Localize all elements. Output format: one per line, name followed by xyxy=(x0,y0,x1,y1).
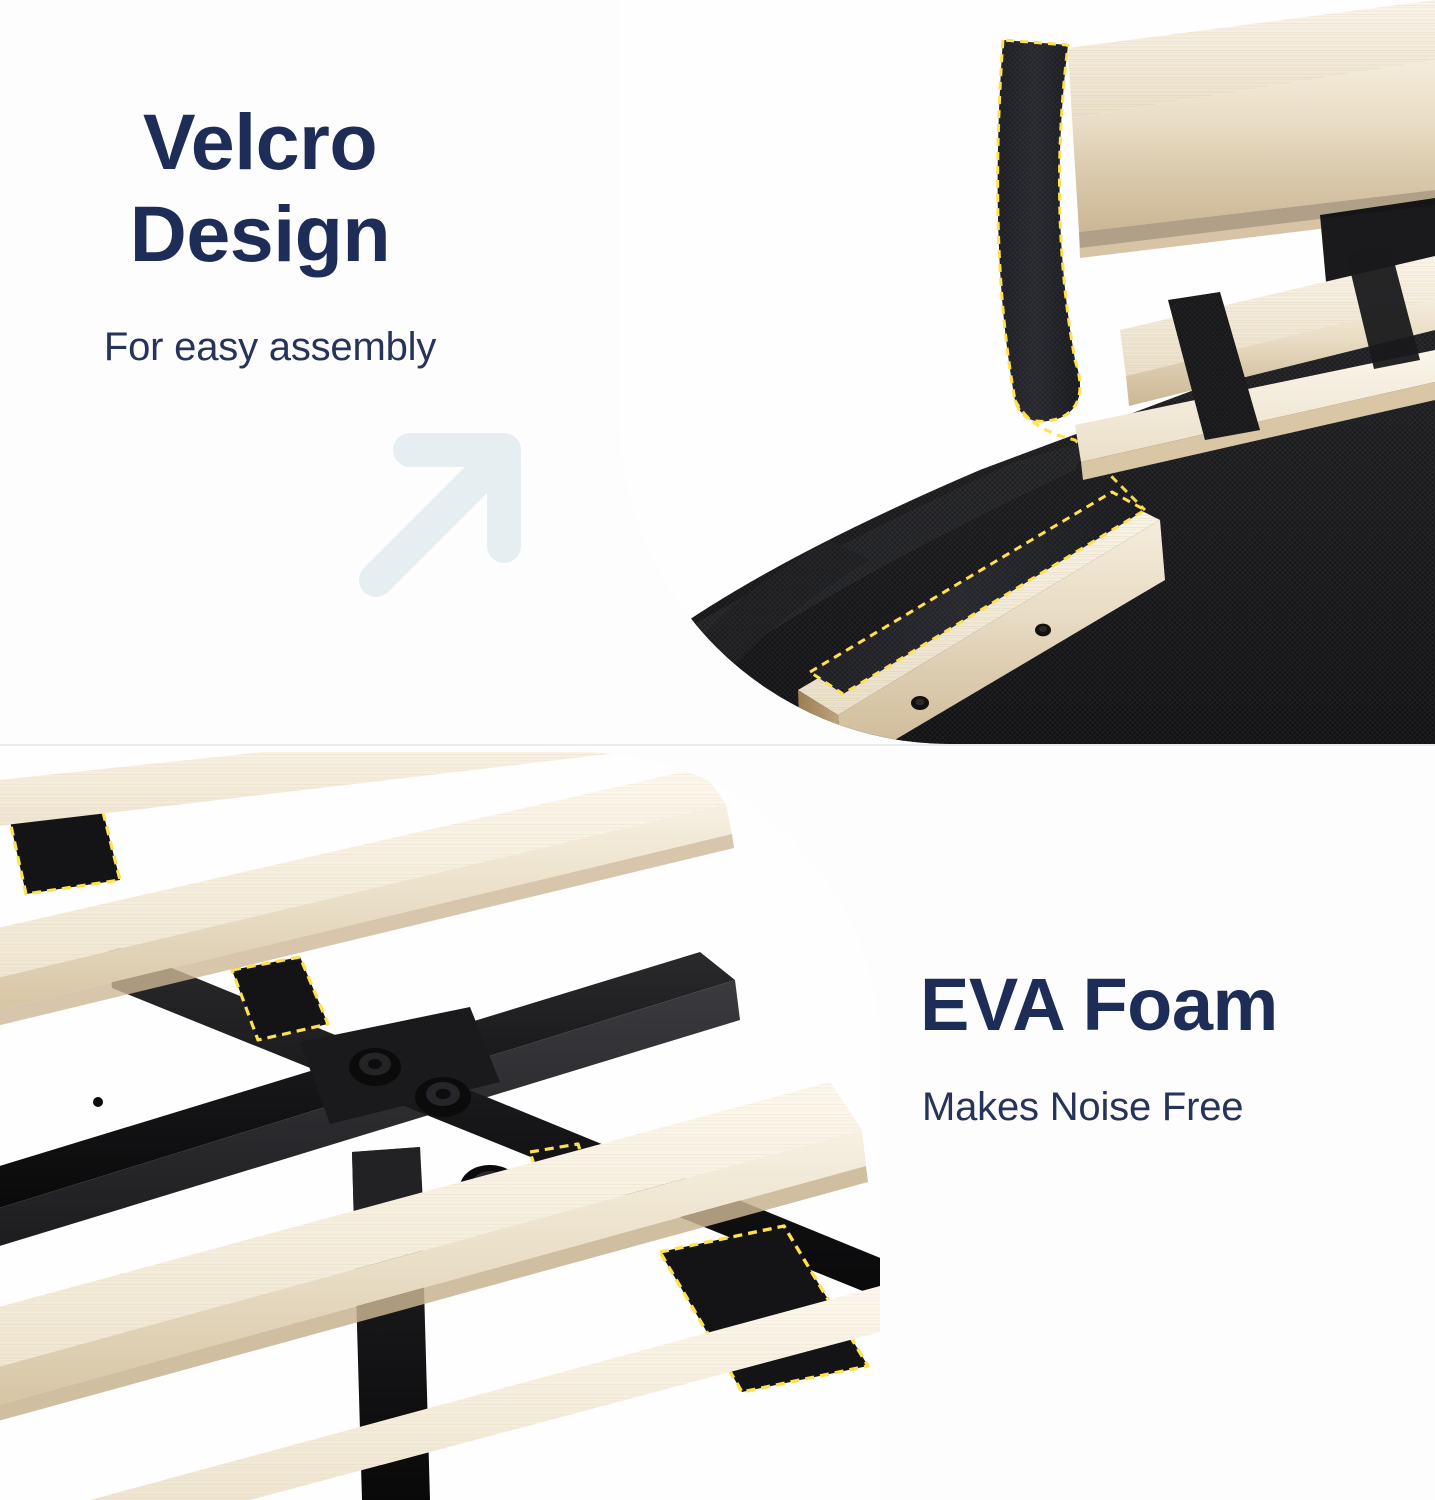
eva-foam-text-panel: EVA Foam Makes Noise Free xyxy=(880,744,1435,1500)
velcro-title: Velcro Design xyxy=(0,96,520,281)
velcro-title-line1: Velcro xyxy=(0,96,520,188)
velcro-text-panel: Velcro Design For easy assembly xyxy=(0,0,620,744)
velcro-subtitle: For easy assembly xyxy=(0,325,540,370)
velcro-title-line2: Design xyxy=(0,188,520,280)
velcro-photo xyxy=(620,0,1435,744)
eva-foam-title: EVA Foam xyxy=(920,964,1420,1045)
eva-foam-subtitle: Makes Noise Free xyxy=(922,1085,1422,1130)
eva-foam-photo xyxy=(0,752,880,1500)
arrow-up-right-icon xyxy=(352,424,542,604)
velcro-photo-illustration xyxy=(620,0,1435,744)
infographic-canvas: Velcro Design For easy assembly EVA Foam… xyxy=(0,0,1435,1500)
eva-foam-photo-illustration xyxy=(0,752,880,1500)
